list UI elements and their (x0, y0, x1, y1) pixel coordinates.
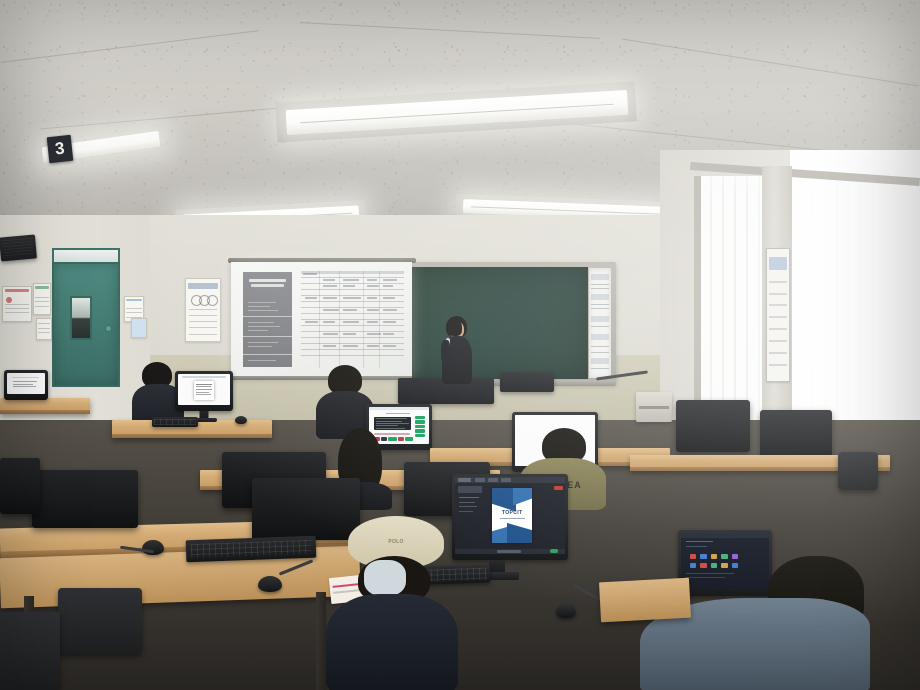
green-action-button[interactable] (415, 416, 426, 419)
desk-leg (316, 592, 326, 690)
table-cell (343, 345, 358, 347)
student-body (326, 594, 458, 690)
wall-poster-safety[interactable] (2, 286, 32, 322)
table-cell (383, 285, 393, 287)
slide-text-line (248, 310, 278, 311)
table-cell (323, 345, 336, 347)
table-row (301, 301, 404, 302)
table-row (301, 319, 404, 320)
instructor-hair-front (446, 318, 462, 336)
screen-text-line (13, 386, 36, 387)
doc-text-line (196, 392, 209, 393)
pdf-page-topcit: TOPCIT (492, 488, 532, 543)
keyboard[interactable] (186, 536, 317, 563)
table-cell (323, 279, 335, 281)
toolbar-menu-item[interactable] (501, 478, 511, 482)
projection-screen (231, 262, 412, 378)
poster-line (38, 328, 50, 329)
topcit-cover-art: TOPCIT (492, 488, 532, 543)
classroom-chair[interactable] (838, 452, 878, 490)
workstation-monitor-rear (760, 410, 832, 458)
screen-toolbar (369, 407, 429, 410)
poster-line (189, 321, 218, 322)
table-cell (367, 309, 379, 311)
table-row (301, 331, 404, 332)
mouse[interactable] (258, 576, 282, 592)
cover-shape-top-right (513, 488, 532, 506)
table-row (301, 355, 404, 356)
notice-block (591, 316, 609, 322)
notice-line (591, 368, 610, 369)
table-cell (323, 285, 337, 287)
slide-text-line (248, 342, 278, 343)
chalkboard (404, 262, 616, 384)
green-action-button[interactable] (415, 420, 426, 423)
table-cell (367, 345, 379, 347)
table-cell (383, 345, 396, 347)
notice-block (591, 274, 609, 280)
notice-row (769, 293, 788, 295)
poster-line (189, 309, 218, 310)
notice-row (769, 352, 788, 354)
workstation-monitor-rear (0, 458, 40, 514)
notice-row (769, 316, 788, 318)
desk-edge (0, 410, 90, 414)
doc-text-line (196, 386, 211, 387)
mouse[interactable] (556, 604, 576, 618)
student-cap: POLO (326, 516, 458, 690)
code-line (376, 425, 398, 426)
table-row (301, 277, 404, 278)
poster-line (126, 308, 141, 309)
screen-document (194, 381, 215, 400)
workstation-monitor-rear (32, 470, 138, 528)
poster-line (35, 306, 48, 307)
table-cell (343, 285, 355, 287)
table-row (301, 349, 404, 350)
code-line (376, 418, 407, 419)
green-action-button[interactable] (415, 429, 426, 432)
notice-line (591, 304, 610, 305)
screen-window-titlebar (182, 376, 226, 378)
status-tray-icon[interactable] (550, 549, 559, 553)
topcit-brand-text: TOPCIT (492, 510, 532, 516)
poster-line (189, 334, 218, 335)
code-line (376, 421, 402, 422)
slide-title-line (249, 279, 286, 282)
wall-speaker (0, 234, 37, 261)
pdf-outline-line (459, 506, 477, 507)
monitor-screen: TOPCIT (455, 477, 565, 554)
toolbar-menu-item[interactable] (488, 478, 498, 482)
slide-text-line (248, 360, 276, 361)
notification-badge[interactable] (554, 486, 563, 490)
room-number-text: 3 (54, 139, 66, 160)
notice-block (591, 294, 609, 300)
slide-text-line (248, 306, 270, 307)
slide-text-line (248, 322, 274, 323)
slide-text-line (248, 302, 276, 303)
table-cell (383, 279, 397, 281)
poster-icon-dot (6, 297, 12, 303)
doc-text-line (196, 394, 212, 395)
notice-row (769, 364, 788, 366)
classroom-photo: 3 1 (0, 0, 920, 690)
poster-line (38, 323, 50, 324)
notice-row (769, 281, 788, 283)
poster-circle-icon (207, 295, 218, 306)
app-text-line (686, 541, 712, 542)
slide-text-line (248, 330, 268, 331)
desk-edge (112, 434, 272, 438)
chalkboard-posted-notices (589, 268, 611, 378)
table-cell (383, 297, 395, 299)
table-cell (323, 309, 339, 311)
pdf-outline-line (459, 497, 479, 498)
keyboard-keys (191, 539, 311, 558)
pdf-outline-line (459, 502, 474, 503)
doc-text-line (196, 384, 213, 385)
screen-text-line (386, 413, 410, 414)
keyboard-keys (154, 419, 196, 426)
poster-line (189, 315, 218, 316)
workstation-monitor-pdf: TOPCIT (452, 474, 568, 560)
poster-line (189, 327, 218, 328)
poster-header-band (188, 283, 218, 289)
table-row (301, 283, 404, 284)
slide-divider (243, 354, 292, 355)
instructor (440, 316, 474, 384)
table-row (301, 337, 404, 338)
app-text-line (686, 546, 707, 547)
table-row (301, 325, 404, 326)
table-cell (383, 309, 397, 311)
notice-row (769, 340, 788, 342)
notice-line (591, 308, 610, 309)
table-row (301, 295, 404, 296)
notice-line (591, 352, 610, 353)
poster-line (5, 308, 29, 309)
notice-line (591, 284, 610, 285)
light-tube-divider (471, 206, 660, 214)
poster-line (5, 304, 29, 305)
wall-poster-small[interactable] (33, 283, 51, 315)
pillar-notice-board[interactable] (766, 248, 790, 382)
notice-row (769, 328, 788, 330)
table-cell (383, 333, 394, 335)
office-printer (636, 392, 672, 422)
notice-line (591, 346, 610, 347)
cover-shape-bottom-right (507, 522, 532, 543)
poster-header-band (126, 299, 142, 301)
table-row (301, 307, 404, 308)
table-cell (305, 321, 318, 323)
chalkboard-surface (409, 267, 588, 379)
table-cell (343, 297, 361, 299)
poster-line (126, 312, 141, 313)
mouse[interactable] (235, 416, 247, 424)
wall-poster-notice[interactable] (36, 318, 52, 340)
table-cell (343, 321, 359, 323)
toolbar-menu-item[interactable] (458, 478, 471, 482)
screen-status-chip (398, 437, 404, 441)
table-cell (367, 285, 379, 287)
slide-divider (243, 336, 292, 337)
hair-tie (364, 560, 406, 596)
table-cell (323, 333, 338, 335)
table-cell (303, 273, 317, 275)
slide-text-line (248, 326, 280, 327)
keyboard[interactable] (152, 417, 198, 427)
table-cell (367, 321, 378, 323)
pdf-page-control[interactable] (497, 550, 521, 553)
slide-text-line (248, 346, 272, 347)
front-equipment-box (500, 372, 554, 392)
door-window (70, 296, 92, 340)
screen-text-line (13, 381, 37, 382)
table-cell (383, 321, 396, 323)
table-cell (323, 297, 337, 299)
pdf-sidebar-thumbnail[interactable] (458, 486, 482, 493)
classroom-door[interactable] (52, 262, 120, 387)
slide-sidebar-panel (243, 272, 292, 367)
instructor-arm (441, 340, 450, 362)
doc-text-line (196, 389, 213, 390)
slide-subtitle-line (251, 284, 284, 287)
monitor-screen (178, 374, 230, 405)
printer-paper-slot (639, 406, 669, 409)
notice-header-band (769, 257, 787, 270)
poster-line (35, 301, 48, 302)
workstation-monitor (175, 371, 233, 411)
screen-text-line (13, 384, 33, 385)
slide-schedule-table (301, 271, 404, 368)
poster-header-band (5, 289, 30, 292)
green-action-button[interactable] (415, 434, 426, 437)
notice-block (591, 334, 609, 340)
table-cell (367, 279, 377, 281)
workstation-monitor (4, 370, 48, 400)
notice-line (591, 288, 610, 289)
room-number-sign: 3 (47, 135, 74, 163)
computer-desk-foreground-right (599, 578, 691, 623)
computer-desk (0, 398, 90, 414)
notice-row (769, 304, 788, 306)
wall-poster-blue[interactable] (131, 318, 147, 338)
table-cell (343, 279, 359, 281)
table-cell (305, 297, 317, 299)
table-cell (367, 333, 381, 335)
table-cell (323, 321, 335, 323)
table-row (301, 289, 404, 290)
cap-text: POLO (348, 539, 444, 545)
cover-subtitle-rule (500, 518, 525, 519)
poster-line (5, 312, 29, 313)
slide-divider (243, 316, 292, 317)
table-cell (343, 333, 356, 335)
green-action-button[interactable] (415, 425, 426, 428)
table-row (301, 313, 404, 314)
app-titlebar[interactable] (681, 533, 769, 538)
table-cell (343, 309, 357, 311)
poster-line (35, 297, 48, 298)
poster-line (38, 332, 50, 333)
classroom-chair[interactable] (58, 588, 142, 654)
workstation-monitor-rear (676, 400, 750, 452)
classroom-chair[interactable] (0, 612, 60, 690)
student-blue-shirt (640, 556, 870, 690)
table-row (301, 343, 404, 344)
toolbar-menu-item[interactable] (475, 478, 485, 482)
table-cell (367, 297, 377, 299)
door-knob[interactable] (106, 326, 111, 331)
screen-status-chip (405, 437, 413, 441)
monitor-screen (7, 373, 45, 394)
notice-block (591, 358, 609, 364)
poster-header-band (35, 286, 49, 289)
notice-line (591, 326, 610, 327)
pdf-outline-line (459, 511, 472, 512)
code-line (376, 423, 409, 424)
wall-poster-chart[interactable] (185, 278, 221, 342)
